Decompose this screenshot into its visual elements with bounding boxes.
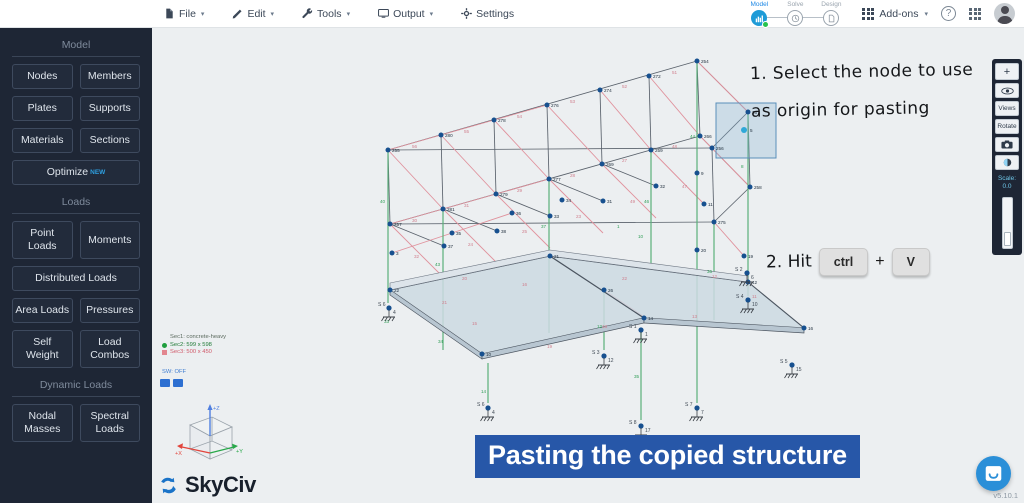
svg-text:26: 26 (608, 288, 614, 293)
help-glyph: ? (946, 8, 952, 19)
sidebar-item-area-loads[interactable]: Area Loads (12, 298, 73, 323)
svg-text:279: 279 (500, 192, 508, 197)
menu-edit[interactable]: Edit ▾ (228, 6, 278, 22)
sidebar-item-optimize[interactable]: OptimizeNEW (12, 160, 140, 185)
menu-tools-label: Tools (317, 8, 342, 20)
svg-text:4: 4 (393, 310, 396, 316)
key-ctrl: ctrl (819, 248, 868, 276)
sidebar-row: Area Loads Pressures (0, 298, 152, 330)
svg-text:23: 23 (576, 214, 582, 219)
svg-text:46: 46 (644, 199, 650, 204)
svg-text:275: 275 (718, 220, 726, 225)
svg-text:30: 30 (412, 218, 418, 223)
svg-text:S 7: S 7 (685, 402, 693, 408)
menu-output-label: Output (393, 8, 425, 20)
svg-text:17: 17 (645, 428, 651, 434)
svg-text:S 3: S 3 (592, 350, 600, 356)
scale-caption: Scale: (998, 175, 1016, 182)
menu-settings-label: Settings (476, 8, 514, 20)
sidebar-item-load-combos[interactable]: Load Combos (80, 330, 141, 368)
units-icon[interactable] (173, 379, 183, 387)
sidebar-row: Distributed Loads (0, 266, 152, 298)
svg-text:6: 6 (751, 275, 754, 281)
axis-orientation-cube[interactable]: +Z +Y +X (164, 401, 250, 473)
help-icon[interactable]: ? (941, 6, 956, 21)
svg-text:38: 38 (501, 229, 507, 234)
svg-text:1: 1 (617, 224, 620, 229)
design-step-icon (823, 10, 839, 26)
svg-text:278: 278 (498, 118, 506, 123)
sidebar-item-materials[interactable]: Materials (12, 128, 73, 153)
wrench-icon (302, 8, 313, 19)
scale-value: 0.0 (1002, 183, 1011, 190)
workflow-step-model[interactable]: Model (741, 1, 777, 28)
svg-text:21: 21 (442, 300, 448, 305)
solve-step-icon (787, 10, 803, 26)
sidebar-row: Point Loads Moments (0, 221, 152, 266)
svg-text:33: 33 (554, 214, 560, 219)
svg-text:257: 257 (394, 222, 402, 227)
svg-text:9: 9 (701, 171, 704, 176)
gear-icon (461, 8, 472, 19)
intercom-chat-button[interactable] (976, 456, 1011, 491)
legend-label: Sec3: 500 x 450 (170, 349, 212, 357)
svg-text:47: 47 (682, 184, 688, 189)
sidebar-item-supports[interactable]: Supports (80, 96, 141, 121)
sidebar-item-spectral-loads[interactable]: Spectral Loads (80, 404, 141, 442)
menu-file-label: File (179, 8, 196, 20)
workflow-stepper: Model Solve Design (741, 0, 849, 28)
render-button[interactable] (995, 155, 1019, 170)
caption-banner: Pasting the copied structure (475, 435, 860, 478)
svg-text:37: 37 (448, 244, 454, 249)
key-v: V (892, 248, 930, 276)
viewport-toolbar: + Views Rotate Scale: 0.0 (992, 59, 1022, 255)
svg-text:22: 22 (622, 276, 628, 281)
svg-text:S 2: S 2 (735, 267, 743, 273)
svg-text:14: 14 (648, 316, 654, 321)
svg-text:34: 34 (438, 339, 444, 344)
svg-text:19: 19 (748, 254, 754, 259)
addons-menu[interactable]: Add-ons ▾ (862, 8, 928, 20)
workflow-step-label: Solve (777, 1, 813, 9)
svg-text:19: 19 (547, 344, 553, 349)
svg-text:22: 22 (394, 288, 400, 293)
legend-row: Sec2: 599 x 598 (162, 342, 226, 350)
svg-text:277: 277 (553, 177, 561, 182)
svg-text:40: 40 (380, 199, 386, 204)
svg-text:43: 43 (435, 262, 441, 267)
brand-name: SkyCiv (185, 472, 256, 498)
menu-settings[interactable]: Settings (457, 6, 518, 22)
svg-text:272: 272 (653, 74, 661, 79)
sidebar-item-self-weight[interactable]: Self Weight (12, 330, 73, 368)
svg-text:4: 4 (492, 410, 495, 416)
sidebar-item-sections[interactable]: Sections (80, 128, 141, 153)
svg-text:52: 52 (622, 84, 628, 89)
svg-text:24: 24 (468, 242, 474, 247)
svg-text:266: 266 (704, 134, 712, 139)
svg-text:49: 49 (630, 199, 636, 204)
svg-text:51: 51 (672, 70, 678, 75)
svg-text:259: 259 (655, 148, 663, 153)
self-weight-toggle-icons[interactable] (160, 379, 183, 387)
legend-swatch-icon (162, 335, 167, 340)
svg-text:27: 27 (622, 158, 628, 163)
chevron-down-icon: ▾ (924, 10, 928, 18)
legend-swatch-icon (162, 343, 167, 348)
svg-text:+Y: +Y (236, 449, 243, 455)
monitor-icon (378, 8, 389, 19)
main-menu: File ▾ Edit ▾ Tools ▾ (160, 6, 518, 22)
sidebar-item-nodes[interactable]: Nodes (12, 64, 73, 89)
svg-text:254: 254 (701, 59, 709, 64)
rotate-button[interactable]: Rotate (995, 119, 1019, 134)
svg-text:20: 20 (701, 248, 707, 253)
workflow-step-design[interactable]: Design (813, 1, 849, 28)
sidebar-row: Nodal Masses Spectral Loads (0, 404, 152, 449)
left-sidebar: Model Nodes Members Plates Supports Mate… (0, 28, 152, 503)
svg-text:S 4: S 4 (736, 294, 744, 300)
svg-text:35: 35 (634, 374, 640, 379)
addons-label: Add-ons (879, 8, 918, 20)
sidebar-row: Self Weight Load Combos (0, 330, 152, 375)
top-menu-bar: File ▾ Edit ▾ Tools ▾ (0, 0, 1024, 28)
svg-text:33: 33 (384, 319, 390, 324)
menu-file[interactable]: File ▾ (160, 6, 208, 22)
svg-text:16: 16 (522, 282, 528, 287)
svg-text:7: 7 (701, 410, 704, 416)
apps-grid-icon[interactable] (969, 8, 981, 20)
sidebar-item-point-loads[interactable]: Point Loads (12, 221, 73, 259)
svg-text:281: 281 (447, 207, 455, 212)
svg-text:28: 28 (570, 173, 576, 178)
svg-text:274: 274 (604, 88, 612, 93)
screenshot-button[interactable] (995, 137, 1019, 152)
new-badge: NEW (90, 166, 105, 179)
svg-text:269: 269 (606, 162, 614, 167)
brand-logo: SkyCiv (156, 472, 256, 498)
svg-text:44: 44 (690, 134, 696, 139)
sidebar-item-nodal-masses[interactable]: Nodal Masses (12, 404, 73, 442)
section-legend: Sec1: concrete-heavy Sec2: 599 x 598 Sec… (162, 334, 226, 357)
sidebar-row: OptimizeNEW (0, 160, 152, 192)
svg-text:10: 10 (486, 352, 492, 357)
svg-text:10: 10 (752, 302, 758, 308)
workflow-step-label: Model (741, 1, 777, 9)
svg-text:13: 13 (692, 314, 698, 319)
sidebar-item-moments[interactable]: Moments (80, 221, 141, 259)
sidebar-item-pressures[interactable]: Pressures (80, 298, 141, 323)
pencil-icon (232, 8, 243, 19)
svg-text:29: 29 (517, 188, 523, 193)
svg-text:S 6: S 6 (477, 402, 485, 408)
scale-label: Scale: 0.0 (998, 175, 1016, 191)
chevron-down-icon: ▾ (201, 10, 205, 18)
sidebar-row: Nodes Members (0, 64, 152, 96)
svg-text:276: 276 (551, 103, 559, 108)
topbar-right-controls: Model Solve Design (741, 0, 1024, 28)
columns-green (388, 61, 748, 420)
scale-slider[interactable] (1002, 197, 1013, 249)
svg-text:258: 258 (754, 185, 762, 190)
avatar[interactable] (994, 3, 1015, 24)
sidebar-group-title-model: Model (0, 35, 152, 56)
menu-tools[interactable]: Tools ▾ (298, 6, 354, 22)
unlock-icon[interactable] (160, 379, 170, 387)
legend-row: Sec3: 500 x 450 (162, 349, 226, 357)
svg-text:+X: +X (175, 451, 182, 457)
svg-text:12: 12 (712, 274, 718, 279)
legend-label: Sec1: concrete-heavy (170, 334, 226, 342)
svg-text:20: 20 (462, 276, 468, 281)
svg-text:31: 31 (464, 203, 470, 208)
svg-text:8: 8 (741, 164, 744, 169)
skyciv-app-window: File ▾ Edit ▾ Tools ▾ (0, 0, 1024, 503)
svg-text:32: 32 (660, 184, 666, 189)
svg-text:S 1: S 1 (629, 324, 637, 330)
svg-text:12: 12 (608, 358, 614, 364)
chevron-down-icon: ▾ (271, 10, 275, 18)
svg-text:55: 55 (464, 129, 470, 134)
svg-text:11: 11 (752, 294, 757, 299)
svg-text:21: 21 (554, 254, 560, 259)
workflow-step-label: Design (813, 1, 849, 9)
sidebar-row: Materials Sections (0, 128, 152, 160)
chevron-down-icon: ▾ (347, 10, 351, 18)
svg-text:48: 48 (672, 144, 678, 149)
svg-text:37: 37 (541, 224, 547, 229)
svg-text:54: 54 (517, 114, 523, 119)
file-icon (164, 8, 175, 19)
workflow-step-solve[interactable]: Solve (777, 1, 813, 28)
svg-text:34: 34 (566, 198, 572, 203)
sidebar-group-title-loads: Loads (0, 192, 152, 213)
svg-text:53: 53 (570, 99, 576, 104)
svg-text:14: 14 (481, 389, 487, 394)
svg-text:S 8: S 8 (629, 420, 637, 426)
menu-output[interactable]: Output ▾ (374, 6, 437, 22)
svg-text:S 6: S 6 (378, 302, 386, 308)
sidebar-item-distributed-loads[interactable]: Distributed Loads (12, 266, 140, 291)
sidebar-row: Plates Supports (0, 96, 152, 128)
svg-text:280: 280 (445, 133, 453, 138)
sidebar-item-members[interactable]: Members (80, 64, 141, 89)
svg-text:31: 31 (607, 199, 613, 204)
addons-grid-icon (862, 8, 874, 20)
plus-symbol: + (875, 253, 884, 271)
svg-text:+Z: +Z (213, 406, 220, 412)
scale-slider-thumb[interactable] (1004, 232, 1011, 246)
svg-text:35: 35 (456, 231, 462, 236)
self-weight-status: SW: OFF (162, 369, 186, 375)
chevron-down-icon: ▾ (430, 10, 434, 18)
svg-text:S 5: S 5 (780, 359, 788, 365)
roof-frame-members (388, 61, 750, 246)
legend-row: Sec1: concrete-heavy (162, 334, 226, 342)
svg-text:15: 15 (472, 321, 478, 326)
svg-text:16: 16 (808, 326, 814, 331)
version-label: v5.10.1 (993, 491, 1018, 500)
step-complete-badge (762, 21, 769, 28)
svg-text:1: 1 (645, 332, 648, 338)
zoom-in-button[interactable]: + (995, 63, 1019, 80)
svg-text:256: 256 (716, 146, 724, 151)
views-button[interactable]: Views (995, 101, 1019, 116)
sidebar-item-label: Optimize (47, 166, 88, 179)
svg-text:255: 255 (392, 148, 400, 153)
annotation-step1-line1: 1. Select the node to use (750, 60, 974, 84)
sidebar-divider (12, 213, 140, 214)
svg-text:15: 15 (796, 367, 802, 373)
svg-text:5: 5 (750, 128, 753, 133)
svg-text:11: 11 (708, 202, 713, 207)
annotation-step2: 2. Hit ctrl + V (766, 248, 930, 276)
sidebar-item-plates[interactable]: Plates (12, 96, 73, 121)
svg-text:56: 56 (412, 144, 418, 149)
visibility-button[interactable] (995, 83, 1019, 98)
svg-text:32: 32 (414, 254, 420, 259)
svg-text:3: 3 (396, 251, 399, 256)
legend-label: Sec2: 599 x 598 (170, 342, 212, 350)
svg-text:36: 36 (516, 211, 522, 216)
chat-icon (984, 464, 1003, 483)
sidebar-divider (12, 396, 140, 397)
legend-swatch-icon (162, 350, 167, 355)
svg-text:18: 18 (602, 324, 608, 329)
menu-edit-label: Edit (247, 8, 265, 20)
svg-text:10: 10 (638, 234, 644, 239)
svg-text:25: 25 (522, 229, 528, 234)
sidebar-group-title-dynamic-loads: Dynamic Loads (0, 375, 152, 396)
annotation-step1-line2: as origin for pasting (751, 98, 930, 121)
sidebar-divider (12, 56, 140, 57)
selected-node[interactable] (741, 127, 747, 133)
annotation-step2-text: 2. Hit (766, 252, 812, 273)
skyciv-logo-icon (156, 473, 181, 498)
